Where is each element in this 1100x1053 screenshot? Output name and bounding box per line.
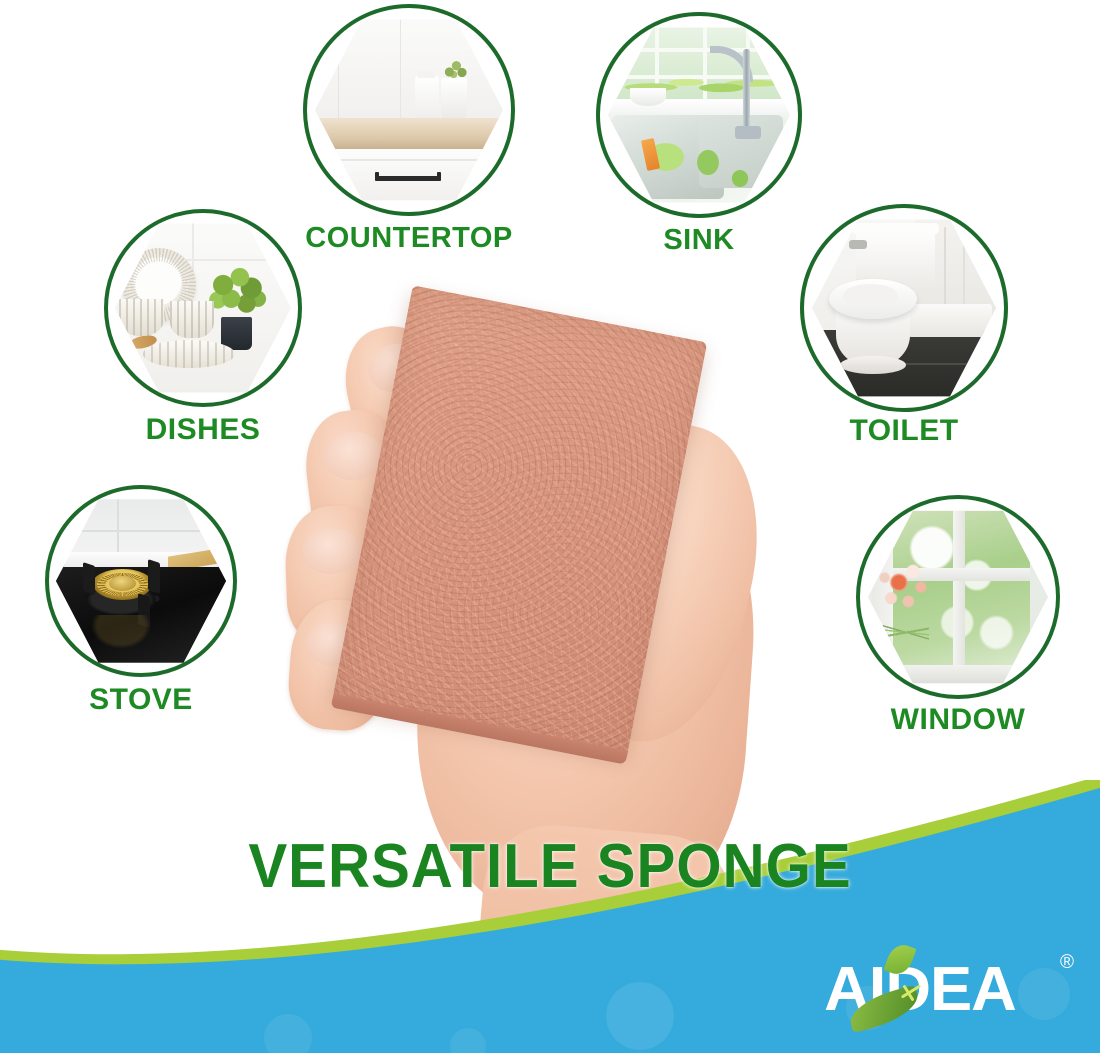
badge-window[interactable]: WINDOW xyxy=(856,495,1060,745)
badge-label-window: WINDOW xyxy=(856,703,1060,737)
page-title: VERSATILE SPONGE xyxy=(33,831,1067,902)
badge-label-sink: SINK xyxy=(596,224,802,257)
badge-stove[interactable]: STOVE xyxy=(45,485,237,730)
badge-sink[interactable]: SINK xyxy=(596,12,802,262)
brand-logo[interactable]: AIDEA ® xyxy=(826,948,1076,1033)
registered-mark: ® xyxy=(1060,952,1074,974)
badge-countertop[interactable]: COUNTERTOP xyxy=(303,4,515,256)
badge-label-stove: STOVE xyxy=(45,683,237,717)
badge-label-countertop: COUNTERTOP xyxy=(303,222,515,255)
infographic-canvas: COUNTERTOP SINK xyxy=(0,0,1100,1053)
